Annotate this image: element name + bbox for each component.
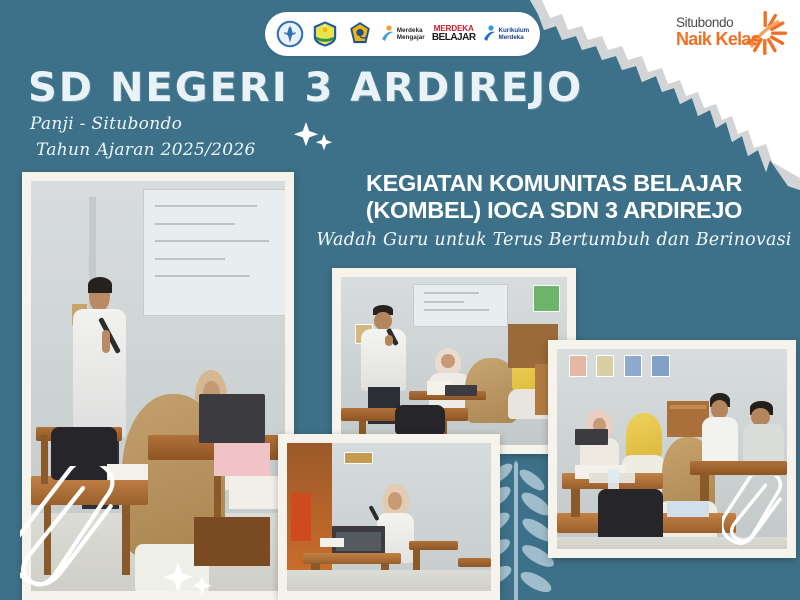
merdeka-mengajar-icon [381,25,394,43]
school-location: Panji - Situbondo [30,114,182,134]
photo-frame-presenter-main [22,172,294,600]
merdeka-belajar-line2: BELAJAR [432,33,476,43]
kurikulum-merdeka-line2: Merdeka [499,34,530,41]
paperclip-left-icon [20,466,116,594]
wall-artwork [651,355,669,377]
partner-logo-strip: Merdeka Mengajar MERDEKA BELAJAR Kurikul… [265,12,540,56]
brand-line1: Situbondo [676,16,760,30]
academic-year: Tahun Ajaran 2025/2026 [36,140,256,160]
situbondo-naik-kelas-brand: Situbondo Naik Kelas [676,14,784,60]
wall-artwork [569,355,587,377]
backpack [598,489,662,541]
merdeka-mengajar-line1: Merdeka [397,27,425,34]
event-headline: KEGIATAN KOMUNITAS BELAJAR (KOMBEL) IOCA… [313,170,795,223]
wall-artwork [596,355,614,377]
photo-presenter-audience [341,277,567,445]
photo-frame-teacher-laptop [278,434,500,600]
sparkle-bottom-icon [162,560,218,600]
photo-teacher-laptop [287,443,491,591]
poster-canvas: Merdeka Mengajar MERDEKA BELAJAR Kurikul… [0,0,800,600]
kemendikbud-logo [346,20,374,48]
merdeka-belajar-logo: MERDEKA BELAJAR [432,25,476,43]
event-tagline: Wadah Guru untuk Terus Bertumbuh dan Ber… [313,230,795,250]
tut-wuri-handayani-logo [276,20,304,48]
merdeka-mengajar-logo: Merdeka Mengajar [381,25,425,43]
photo-frame-presenter-audience [332,268,576,454]
sparkle-title-icon [292,120,336,154]
wall-artwork [624,355,642,377]
kurikulum-merdeka-icon [483,25,496,43]
photo-frame-group-discussion [548,340,796,558]
situbondo-regency-emblem [311,20,339,48]
school-name-title: SD NEGERI 3 ARDIREJO [28,68,583,108]
paperclip-right-icon [722,476,788,554]
brand-line2: Naik Kelas [676,30,760,49]
kurikulum-merdeka-line1: Kurikulum [499,27,530,34]
merdeka-mengajar-line2: Mengajar [397,34,425,41]
kurikulum-merdeka-logo: Kurikulum Merdeka [483,25,530,43]
